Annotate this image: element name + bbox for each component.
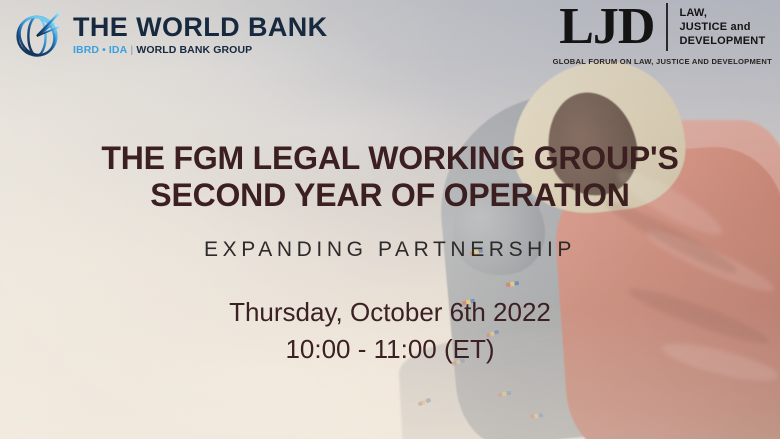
event-headline-line1: THE FGM LEGAL WORKING GROUP'S bbox=[101, 140, 678, 176]
world-bank-wordmark: THE WORLD BANK IBRD • IDA|WORLD BANK GRO… bbox=[73, 14, 328, 56]
ljd-monogram: LJD bbox=[559, 2, 666, 52]
event-datetime: Thursday, October 6th 2022 10:00 - 11:00… bbox=[0, 294, 780, 368]
event-headline: THE FGM LEGAL WORKING GROUP'S SECOND YEA… bbox=[0, 140, 780, 214]
event-date: Thursday, October 6th 2022 bbox=[229, 297, 551, 327]
globe-icon bbox=[10, 8, 64, 62]
event-subheadline: EXPANDING PARTNERSHIP bbox=[0, 238, 780, 262]
world-bank-subtitle: IBRD • IDA|WORLD BANK GROUP bbox=[73, 45, 328, 56]
ljd-logo: LJD LAW, JUSTICE and DEVELOPMENT GLOBAL … bbox=[553, 2, 772, 66]
ljd-word-development: DEVELOPMENT bbox=[679, 34, 765, 48]
world-bank-ibrd-ida: IBRD • IDA bbox=[73, 44, 127, 56]
ljd-tagline: GLOBAL FORUM ON LAW, JUSTICE AND DEVELOP… bbox=[553, 57, 772, 66]
event-time: 10:00 - 11:00 (ET) bbox=[0, 331, 780, 368]
event-headline-line2: SECOND YEAR OF OPERATION bbox=[40, 177, 740, 214]
ljd-word-law: LAW, bbox=[679, 6, 765, 20]
ljd-divider bbox=[666, 3, 668, 51]
ljd-word-justice: JUSTICE and bbox=[679, 20, 765, 34]
world-bank-logo: THE WORLD BANK IBRD • IDA|WORLD BANK GRO… bbox=[10, 8, 328, 62]
ljd-logo-main: LJD LAW, JUSTICE and DEVELOPMENT bbox=[559, 2, 765, 52]
ljd-wordmark: LAW, JUSTICE and DEVELOPMENT bbox=[679, 6, 765, 48]
world-bank-sub-divider: | bbox=[130, 44, 133, 56]
world-bank-group-label: WORLD BANK GROUP bbox=[136, 44, 252, 56]
event-banner: THE WORLD BANK IBRD • IDA|WORLD BANK GRO… bbox=[0, 0, 780, 439]
world-bank-title: THE WORLD BANK bbox=[73, 14, 328, 41]
event-content: THE FGM LEGAL WORKING GROUP'S SECOND YEA… bbox=[0, 140, 780, 368]
